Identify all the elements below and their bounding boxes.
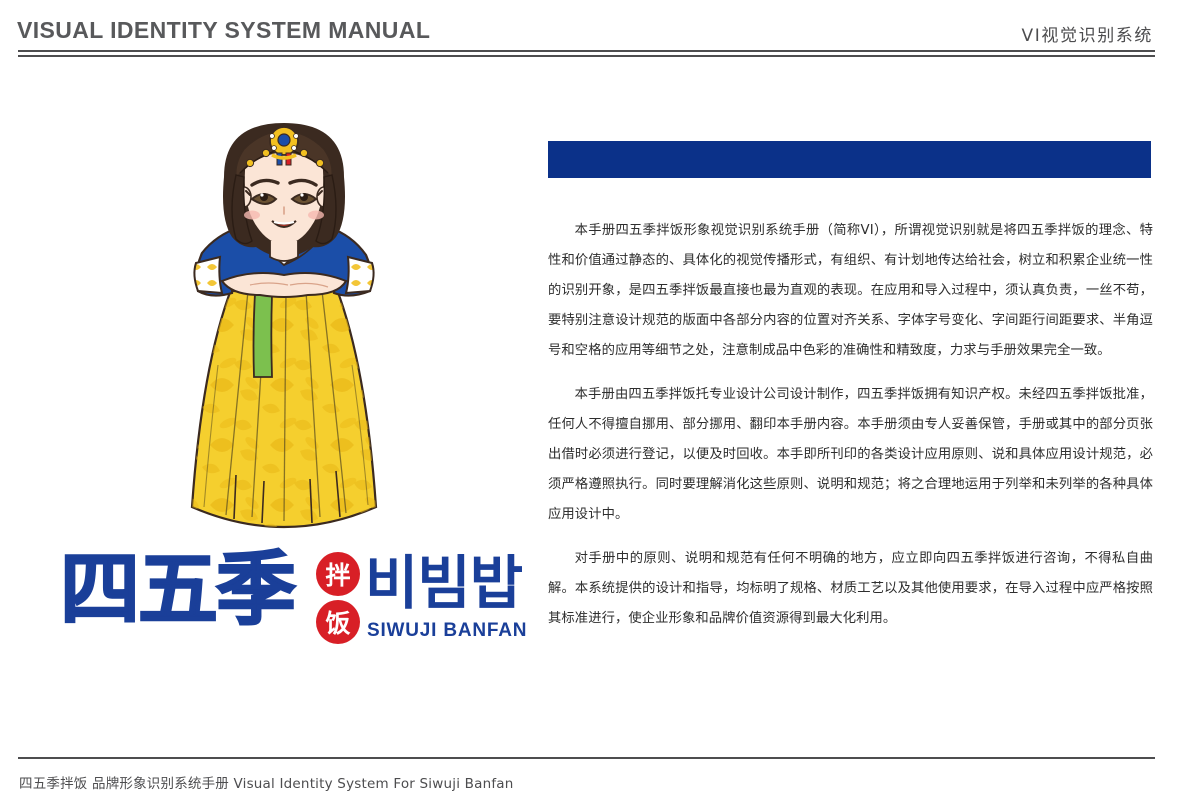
paragraph-1: 本手册四五季拌饭形象视觉识别系统手册（简称VI），所谓视觉识别就是将四五季拌饭的… [548,216,1153,366]
header-divider-lower [18,55,1155,57]
logo-badge-fan: 饭 [316,600,360,644]
footer-divider [18,757,1155,759]
header-divider-upper [18,50,1155,52]
header-subtitle: VI视觉识别系统 [1022,21,1153,46]
logo-badge-ban: 拌 [316,552,360,596]
logo-chinese-wordmark: 四五季 [60,548,294,632]
paragraph-3: 对手册中的原则、说明和规范有任何不明确的地方，应立即向四五季拌饭进行咨询，不得私… [548,544,1153,634]
hands [222,273,346,297]
logo-romanization: SIWUJI BANFAN [367,620,527,642]
footer-caption: 四五季拌饭 品牌形象识别系统手册 Visual Identity System … [19,772,514,792]
paragraph-2: 本手册由四五季拌饭托专业设计公司设计制作，四五季拌饭拥有知识产权。未经四五季拌饭… [548,380,1153,530]
head [223,123,345,257]
body-copy: 本手册四五季拌饭形象视觉识别系统手册（简称VI），所谓视觉识别就是将四五季拌饭的… [548,216,1153,634]
vi-manual-page: VISUAL IDENTITY SYSTEM MANUAL VI视觉识别系统 [0,0,1200,809]
brand-logo: 四五季 拌 饭 비빔밥 SIWUJI BANFAN [60,548,485,648]
chima-skirt [180,280,390,535]
hanbok-woman-illustration [140,115,430,540]
accent-bar [548,141,1151,178]
page-header: VISUAL IDENTITY SYSTEM MANUAL VI视觉识别系统 [0,0,1200,64]
logo-badge-group: 拌 饭 [316,552,362,644]
logo-korean-wordmark: 비빔밥 [365,550,522,616]
page-title: VISUAL IDENTITY SYSTEM MANUAL [17,17,430,44]
